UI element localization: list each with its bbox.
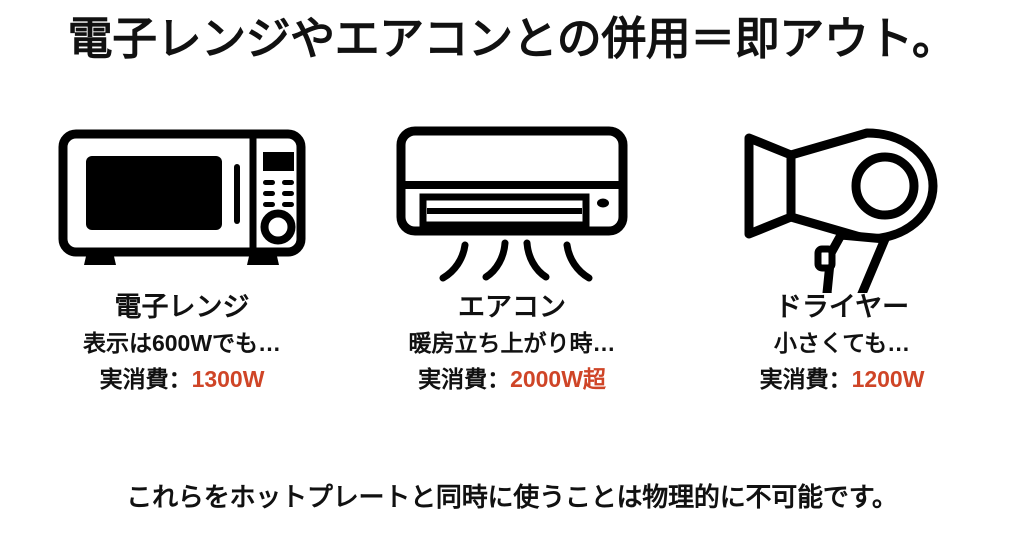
appliance-list: 電子レンジ 表示は600Wでも… 実消費：1300W [0,118,1024,395]
footer-note: これらをホットプレートと同時に使うことは物理的に不可能です。 [0,478,1024,516]
appliance-actual-consumption: 実消費：1200W [760,364,925,395]
actual-label: 実消費： [418,366,510,392]
air-conditioner-icon [387,118,637,288]
appliance-note: 表示は600Wでも… [83,328,281,359]
appliance-note: 暖房立ち上がり時… [409,328,616,359]
appliance-name: ドライヤー [775,290,909,324]
appliance-actual-consumption: 実消費：2000W超 [418,364,606,395]
actual-value: 1300W [192,366,265,392]
appliance-card-microwave: 電子レンジ 表示は600Wでも… 実消費：1300W [22,118,342,395]
actual-value: 2000W超 [510,366,606,392]
appliance-name: エアコン [458,290,566,324]
actual-label: 実消費： [100,366,192,392]
microwave-icon [57,118,307,288]
appliance-card-air-conditioner: エアコン 暖房立ち上がり時… 実消費：2000W超 [352,118,672,395]
appliance-actual-consumption: 実消費：1300W [100,364,265,395]
actual-value: 1200W [852,366,925,392]
actual-label: 実消費： [760,366,852,392]
page-title: 電子レンジやエアコンとの併用＝即アウト。 [0,8,1024,70]
appliance-name: 電子レンジ [115,290,250,324]
hair-dryer-icon [735,118,950,288]
slide: 電子レンジやエアコンとの併用＝即アウト。 [0,0,1024,538]
appliance-note: 小さくても… [774,328,910,359]
appliance-card-hair-dryer: ドライヤー 小さくても… 実消費：1200W [682,118,1002,395]
